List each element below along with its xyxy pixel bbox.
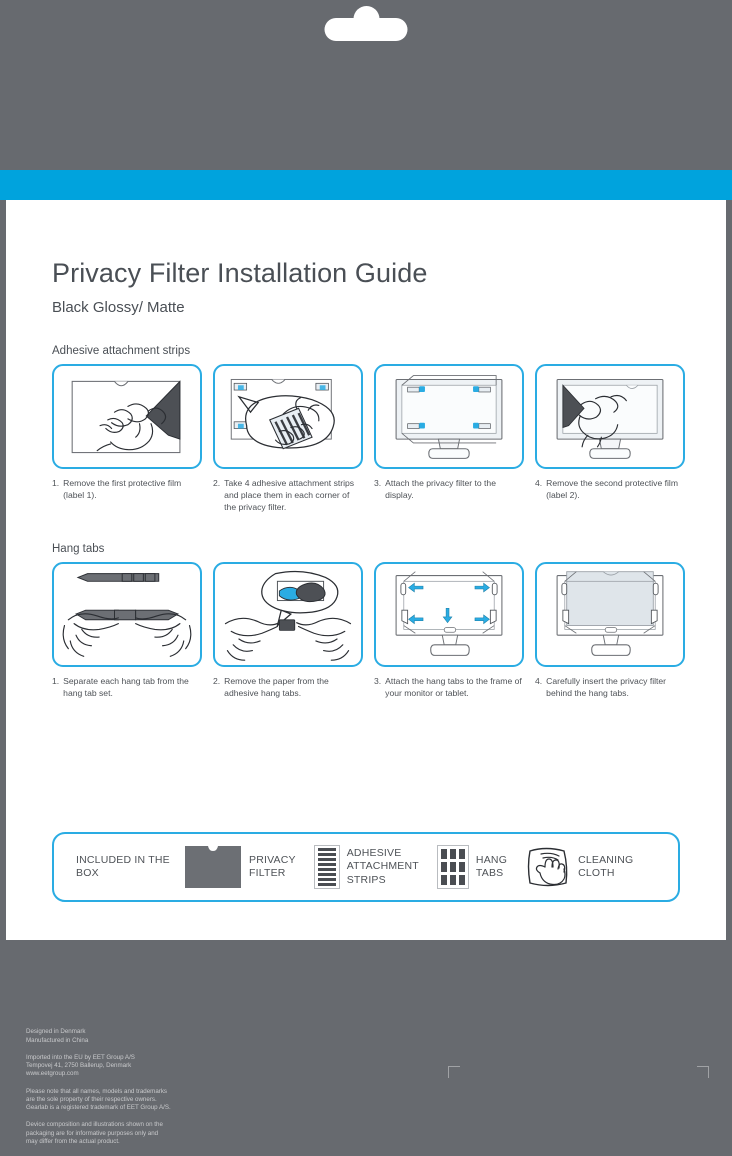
step-card: 4. Remove the second protective film (la… <box>535 364 685 514</box>
step-card: 1. Separate each hang tab from the hang … <box>52 562 202 699</box>
footer-disclaimer: Device composition and illustrations sho… <box>26 1121 256 1146</box>
step-text: Carefully insert the privacy filter behi… <box>546 675 685 699</box>
accent-cyan-band <box>0 170 732 200</box>
step-row-hang-tabs: 1. Separate each hang tab from the hang … <box>52 562 680 699</box>
step-number: 1. <box>52 477 59 501</box>
step-card: 2. Take 4 adhesive attachment strips and… <box>213 364 363 514</box>
step-number: 2. <box>213 675 220 699</box>
package-back-panel: Privacy Filter Installation Guide Black … <box>0 0 732 1156</box>
step-card: 4. Carefully insert the privacy filter b… <box>535 562 685 699</box>
included-in-the-box-title: INCLUDED IN THE BOX <box>76 854 184 881</box>
footer-trademarks: Please note that all names, models and t… <box>26 1088 256 1113</box>
illustration-hand-peeling-film-from-filter <box>52 364 202 469</box>
step-card: 3. Attach the privacy filter to the disp… <box>374 364 524 514</box>
step-text: Remove the first protective film (label … <box>63 477 202 501</box>
box-item-privacy-filter: PRIVACY FILTER <box>184 845 296 889</box>
box-item-label: ADHESIVE ATTACHMENT STRIPS <box>347 847 419 886</box>
box-item-cleaning-cloth: CLEANING CLOTH <box>525 845 633 889</box>
step-text: Remove the paper from the adhesive hang … <box>224 675 363 699</box>
header-band <box>0 0 732 170</box>
step-number: 4. <box>535 477 542 501</box>
registration-mark-right <box>697 1066 709 1078</box>
page-title: Privacy Filter Installation Guide <box>52 258 680 289</box>
cleaning-cloth-icon <box>525 845 571 889</box>
included-in-the-box-panel: INCLUDED IN THE BOX PRIVACY FILTER <box>52 832 680 902</box>
step-number: 2. <box>213 477 220 514</box>
step-caption: 3. Attach the privacy filter to the disp… <box>374 477 524 501</box>
illustration-monitor-with-hang-tab-placement-arrows <box>374 562 524 667</box>
step-caption: 4. Remove the second protective film (la… <box>535 477 685 501</box>
box-item-label: PRIVACY FILTER <box>249 854 296 880</box>
illustration-hands-peeling-paper-from-hang-tab-magnified <box>213 562 363 667</box>
footer-origin: Designed in Denmark Manufactured in Chin… <box>26 1028 256 1045</box>
step-caption: 1. Separate each hang tab from the hang … <box>52 675 202 699</box>
step-card: 2. Remove the paper from the adhesive ha… <box>213 562 363 699</box>
step-number: 1. <box>52 675 59 699</box>
privacy-filter-icon <box>184 845 242 889</box>
box-item-label: CLEANING CLOTH <box>578 854 633 880</box>
step-text: Separate each hang tab from the hang tab… <box>63 675 202 699</box>
box-item-hang-tabs: HANG TABS <box>437 845 507 889</box>
step-number: 3. <box>374 675 381 699</box>
step-text: Remove the second protective film (label… <box>546 477 685 501</box>
hang-tabs-icon <box>437 845 469 889</box>
step-row-adhesive-strips: 1. Remove the first protective film (lab… <box>52 364 680 514</box>
illustration-two-hands-separating-hang-tab-strip <box>52 562 202 667</box>
step-card: 1. Remove the first protective film (lab… <box>52 364 202 514</box>
step-number: 3. <box>374 477 381 501</box>
footer-fine-print: Designed in Denmark Manufactured in Chin… <box>26 1028 256 1146</box>
step-text: Attach the hang tabs to the frame of you… <box>385 675 524 699</box>
box-item-adhesive-strips: ADHESIVE ATTACHMENT STRIPS <box>314 845 419 889</box>
footer-importer: Imported into the EU by EET Group A/S Te… <box>26 1054 256 1079</box>
illustration-filter-inserted-behind-hang-tabs <box>535 562 685 667</box>
step-caption: 4. Carefully insert the privacy filter b… <box>535 675 685 699</box>
step-caption: 2. Remove the paper from the adhesive ha… <box>213 675 363 699</box>
euro-slot-hang-hole <box>325 18 408 41</box>
illustration-filter-attached-to-monitor-corners <box>374 364 524 469</box>
registration-mark-left <box>448 1066 460 1078</box>
step-caption: 2. Take 4 adhesive attachment strips and… <box>213 477 363 514</box>
box-item-label: HANG TABS <box>476 854 507 880</box>
adhesive-strips-icon <box>314 845 340 889</box>
step-number: 4. <box>535 675 542 699</box>
step-caption: 3. Attach the hang tabs to the frame of … <box>374 675 524 699</box>
step-card: 3. Attach the hang tabs to the frame of … <box>374 562 524 699</box>
step-text: Attach the privacy filter to the display… <box>385 477 524 501</box>
step-caption: 1. Remove the first protective film (lab… <box>52 477 202 501</box>
section-label-adhesive-strips: Adhesive attachment strips <box>52 345 680 357</box>
instruction-card: Privacy Filter Installation Guide Black … <box>6 200 726 940</box>
page-subtitle: Black Glossy/ Matte <box>52 299 680 316</box>
illustration-hand-peeling-second-film-on-monitor <box>535 364 685 469</box>
illustration-hand-placing-adhesive-strips-magnified <box>213 364 363 469</box>
step-text: Take 4 adhesive attachment strips and pl… <box>224 477 363 514</box>
section-label-hang-tabs: Hang tabs <box>52 543 680 555</box>
